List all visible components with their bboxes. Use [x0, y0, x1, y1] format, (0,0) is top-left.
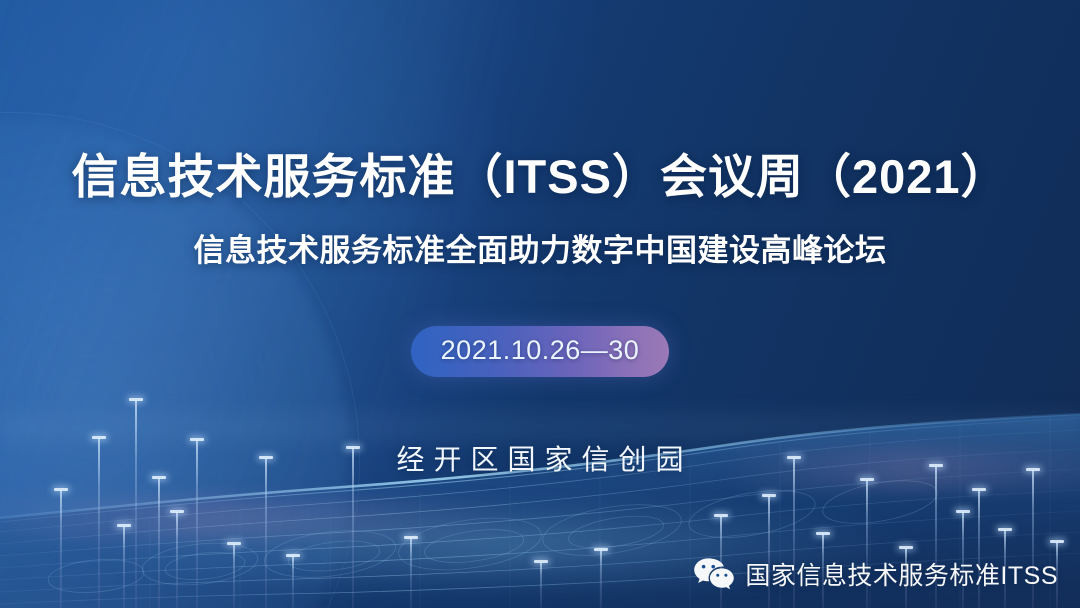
wechat-account-name: 国家信息技术服务标准ITSS [745, 556, 1058, 592]
wechat-icon [693, 557, 735, 591]
event-venue: 经开区国家信创园 [0, 438, 1080, 478]
page-title: 信息技术服务标准（ITSS）会议周（2021） [0, 150, 1080, 204]
poster-content: 信息技术服务标准（ITSS）会议周（2021） 信息技术服务标准全面助力数字中国… [0, 0, 1080, 608]
event-date-badge: 2021.10.26—30 [411, 326, 670, 377]
date-badge-wrapper: 2021.10.26—30 [0, 326, 1080, 377]
event-poster: 信息技术服务标准（ITSS）会议周（2021） 信息技术服务标准全面助力数字中国… [0, 0, 1080, 608]
page-subtitle: 信息技术服务标准全面助力数字中国建设高峰论坛 [0, 232, 1080, 269]
wechat-watermark: 国家信息技术服务标准ITSS [693, 556, 1058, 592]
